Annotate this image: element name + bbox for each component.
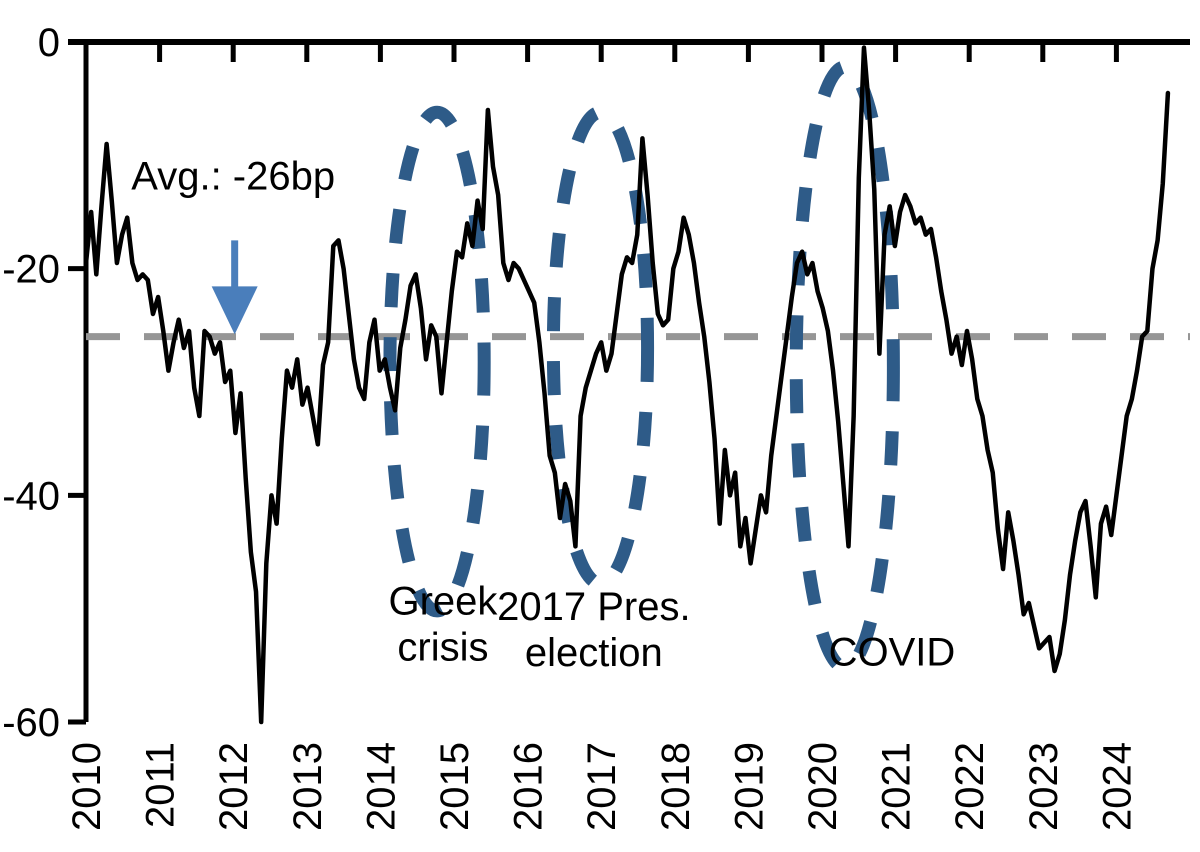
y-tick-label: -20 <box>2 248 60 292</box>
x-tick-label: 2012 <box>212 742 256 831</box>
x-tick-label: 2015 <box>433 742 477 831</box>
pres-election-2017-label: election <box>525 631 663 675</box>
x-tick-label: 2019 <box>727 742 771 831</box>
x-tick-label: 2018 <box>654 742 698 831</box>
covid-label: COVID <box>829 630 956 674</box>
x-tick-label: 2017 <box>580 742 624 831</box>
x-tick-label: 2014 <box>359 742 403 831</box>
avg-callout-label: Avg.: -26bp <box>131 154 335 198</box>
x-tick-label: 2021 <box>875 742 919 831</box>
x-tick-label: 2022 <box>948 742 992 831</box>
line-chart: 0-20-40-60 20102011201220132014201520162… <box>0 0 1200 852</box>
x-tick-label: 2011 <box>139 742 183 828</box>
x-tick-label: 2023 <box>1022 742 1066 831</box>
x-tick-label: 2024 <box>1095 742 1139 831</box>
y-tick-label: 0 <box>38 21 60 65</box>
x-tick-label: 2010 <box>65 742 109 831</box>
x-axis-tick-labels: 2010201120122013201420152016201720182019… <box>65 742 1139 831</box>
x-tick-label: 2016 <box>507 742 551 831</box>
chart-container: 0-20-40-60 20102011201220132014201520162… <box>0 0 1200 852</box>
chart-background <box>0 0 1200 852</box>
greek-crisis-label: crisis <box>397 625 488 669</box>
x-tick-label: 2013 <box>286 742 330 831</box>
greek-crisis-label: Greek <box>388 579 498 623</box>
x-tick-label: 2020 <box>801 742 845 831</box>
y-tick-label: -60 <box>2 701 60 745</box>
pres-election-2017-label: 2017 Pres. <box>497 585 690 629</box>
y-tick-label: -40 <box>2 474 60 518</box>
